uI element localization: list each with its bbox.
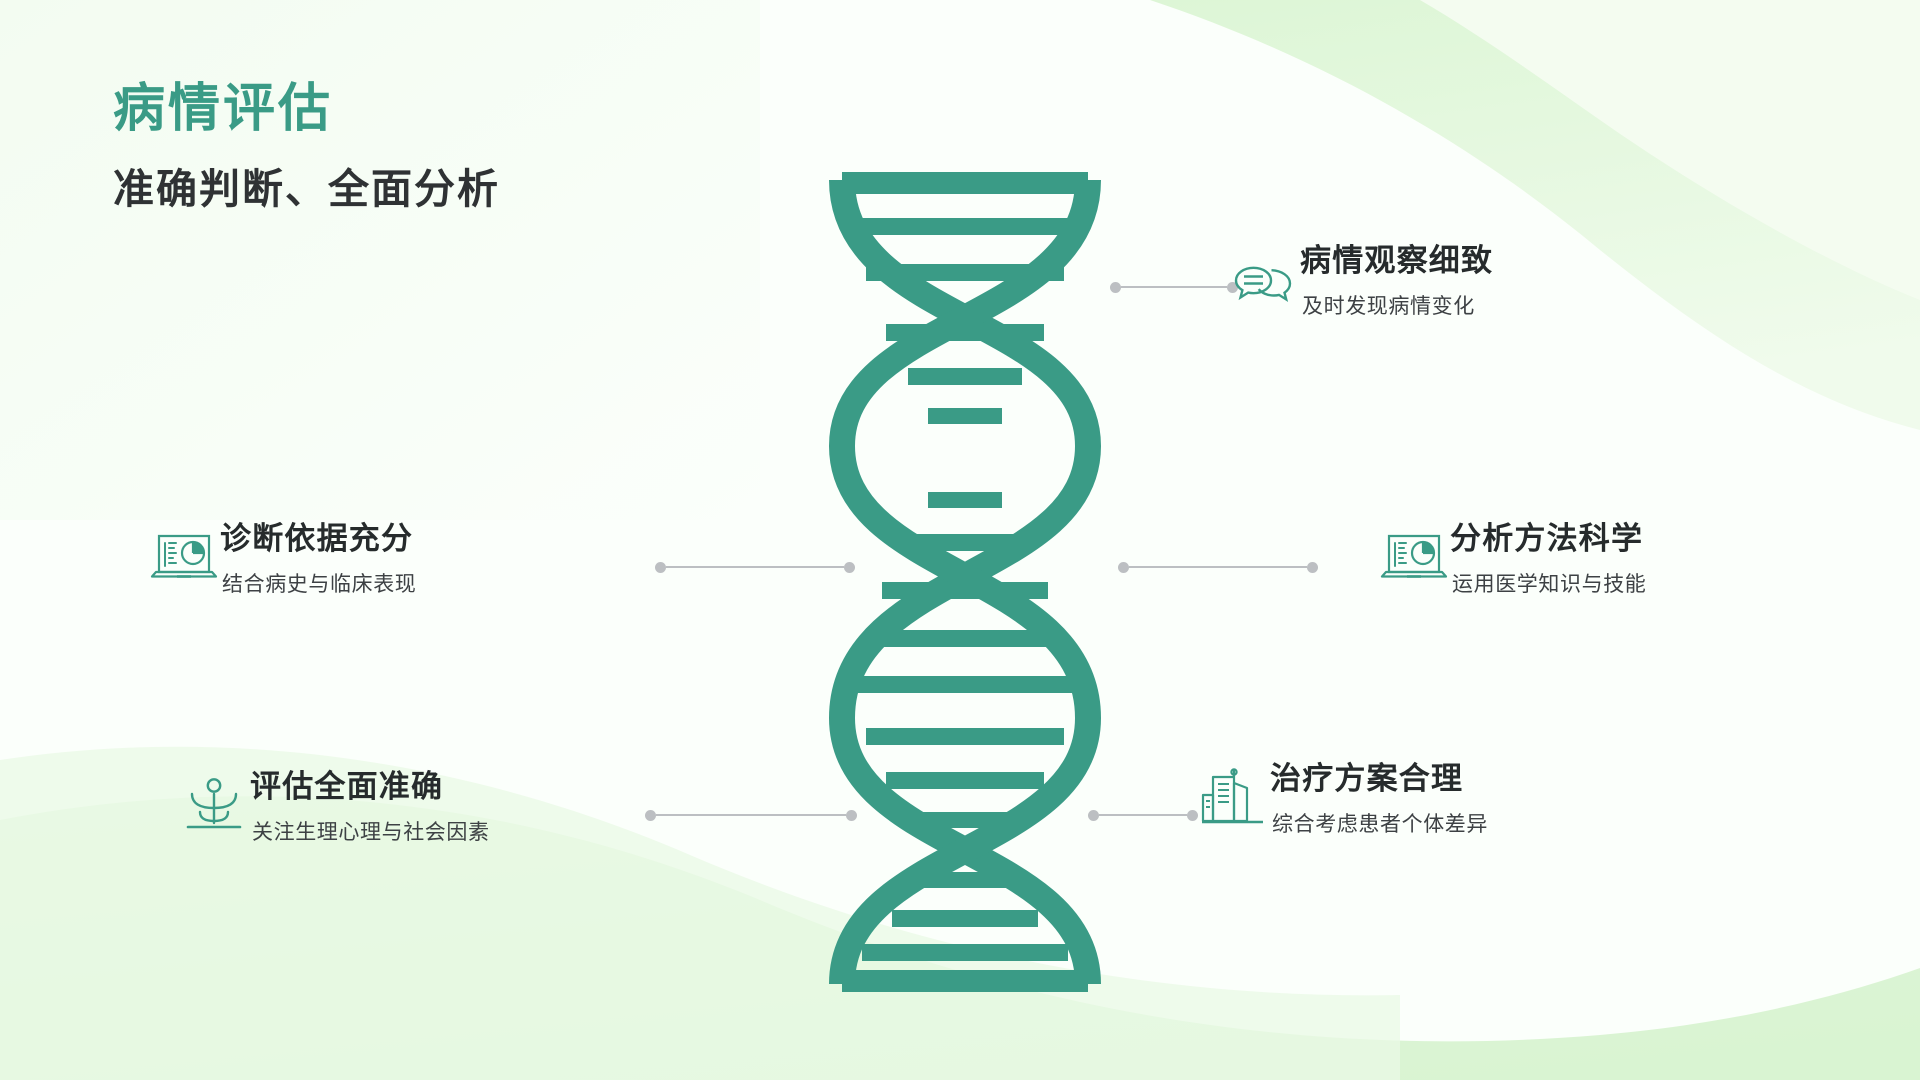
slide-canvas: 病情评估 准确判断、全面分析 xyxy=(0,0,1920,1080)
laptop-chart-icon xyxy=(1378,522,1450,594)
connector-middle-left xyxy=(655,560,855,574)
feature-text-block: 诊断依据充分 结合病史与临床表现 xyxy=(220,520,416,598)
balance-scale-icon xyxy=(178,770,250,842)
connector-dot xyxy=(1088,810,1099,821)
header-block: 病情评估 准确判断、全面分析 xyxy=(113,78,813,216)
connector-line xyxy=(1121,286,1227,288)
feature-description: 运用医学知识与技能 xyxy=(1452,571,1646,598)
feature-text-block: 治疗方案合理 综合考虑患者个体差异 xyxy=(1270,760,1488,838)
connector-line xyxy=(1129,566,1307,568)
connector-dot xyxy=(1187,810,1198,821)
connector-dot xyxy=(645,810,656,821)
connector-line xyxy=(656,814,846,816)
feature-item-analysis-method[interactable]: 分析方法科学 运用医学知识与技能 xyxy=(1378,520,1646,598)
connector-dot xyxy=(1118,562,1129,573)
connector-top-right xyxy=(1110,280,1238,294)
feature-text-block: 病情观察细致 及时发现病情变化 xyxy=(1300,242,1493,320)
feature-item-observation[interactable]: 病情观察细致 及时发现病情变化 xyxy=(1228,242,1493,320)
wave-top-right-highlight xyxy=(1420,0,1920,300)
connector-dot xyxy=(844,562,855,573)
feature-description: 综合考虑患者个体差异 xyxy=(1272,811,1488,838)
connector-line xyxy=(666,566,844,568)
connector-dot xyxy=(846,810,857,821)
connector-bottom-right xyxy=(1088,808,1198,822)
feature-item-assessment-accuracy[interactable]: 评估全面准确 关注生理心理与社会因素 xyxy=(178,768,490,846)
feature-heading: 分析方法科学 xyxy=(1450,520,1643,557)
hospital-building-icon xyxy=(1198,762,1270,834)
dna-helix-svg xyxy=(820,172,1110,992)
feature-description: 结合病史与临床表现 xyxy=(222,571,416,598)
speech-bubbles-icon xyxy=(1228,244,1300,316)
feature-item-treatment-plan[interactable]: 治疗方案合理 综合考虑患者个体差异 xyxy=(1198,760,1488,838)
feature-heading: 评估全面准确 xyxy=(250,768,443,805)
wave-top-right xyxy=(1150,0,1920,430)
connector-dot xyxy=(655,562,666,573)
connector-bottom-left xyxy=(645,808,857,822)
feature-heading: 诊断依据充分 xyxy=(220,520,413,557)
page-title: 病情评估 xyxy=(113,78,813,140)
connector-line xyxy=(1099,814,1187,816)
connector-dot xyxy=(1110,282,1121,293)
feature-item-diagnosis-basis[interactable]: 诊断依据充分 结合病史与临床表现 xyxy=(148,520,416,598)
feature-description: 及时发现病情变化 xyxy=(1302,293,1475,320)
page-subtitle: 准确判断、全面分析 xyxy=(113,164,813,215)
feature-description: 关注生理心理与社会因素 xyxy=(252,819,490,846)
dna-helix-graphic xyxy=(820,172,1110,992)
feature-heading: 治疗方案合理 xyxy=(1270,760,1463,797)
laptop-chart-icon xyxy=(148,522,220,594)
feature-text-block: 分析方法科学 运用医学知识与技能 xyxy=(1450,520,1646,598)
feature-text-block: 评估全面准确 关注生理心理与社会因素 xyxy=(250,768,490,846)
feature-heading: 病情观察细致 xyxy=(1300,242,1493,279)
connector-middle-right xyxy=(1118,560,1318,574)
connector-dot xyxy=(1307,562,1318,573)
